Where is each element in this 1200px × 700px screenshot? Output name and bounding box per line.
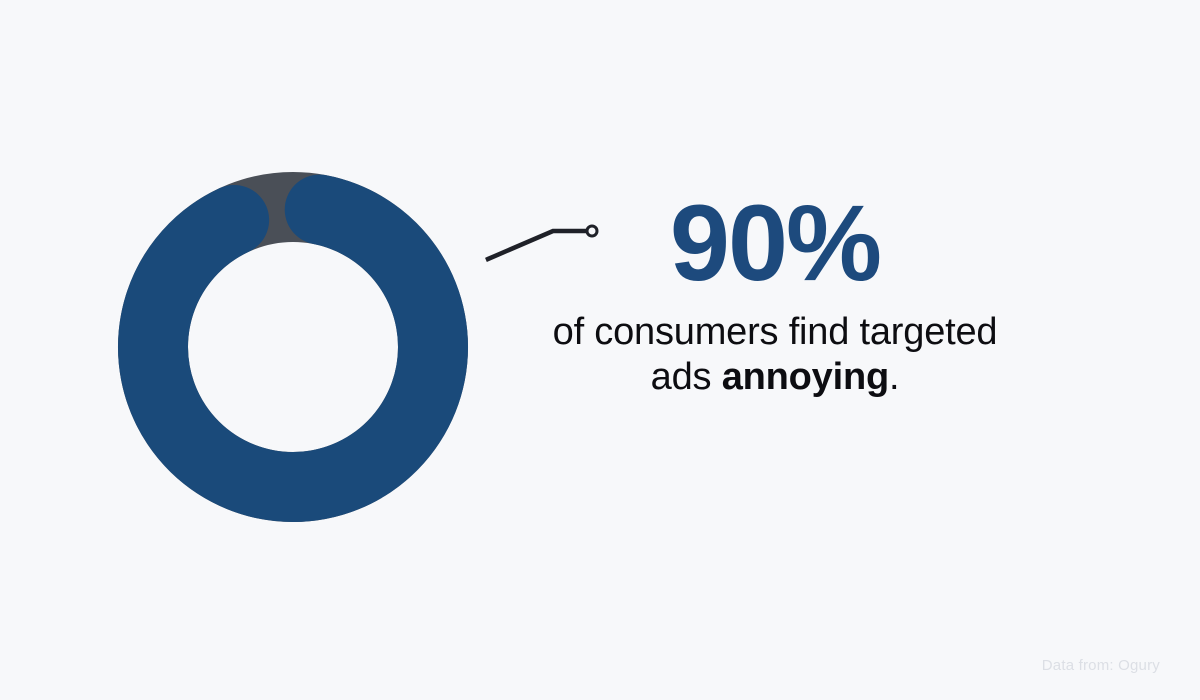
- donut-chart: [108, 162, 478, 532]
- source-attribution: Data from: Ogury: [1042, 657, 1160, 674]
- stat-value: 90%: [525, 188, 1025, 298]
- stat-description-emphasis: annoying: [722, 356, 889, 398]
- callout-text-block: 90% of consumers find targeted ads annoy…: [525, 188, 1025, 400]
- donut-value-arc-slice: [129, 183, 457, 511]
- stat-description: of consumers find targeted ads annoying.: [525, 310, 1025, 400]
- stat-description-suffix: .: [889, 356, 899, 398]
- infographic-canvas: 90% of consumers find targeted ads annoy…: [0, 0, 1200, 700]
